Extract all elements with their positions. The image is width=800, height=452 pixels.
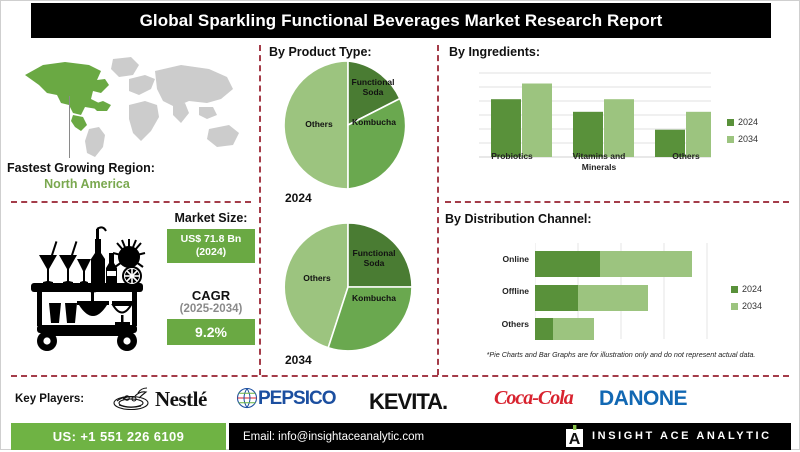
divider-horizontal-bottom bbox=[11, 375, 789, 377]
legend-item-2024: 2024 bbox=[727, 117, 758, 127]
phone-bar[interactable]: US: +1 551 226 6109 bbox=[11, 423, 226, 450]
legend-item-2024-distribution: 2024 bbox=[731, 284, 762, 294]
section-header-ingredients: By Ingredients: bbox=[449, 45, 540, 59]
market-size-value-box: US$ 71.8 Bn (2024) bbox=[167, 229, 255, 263]
logo-nestle: Nestlé bbox=[111, 386, 207, 412]
section-header-distribution: By Distribution Channel: bbox=[445, 212, 592, 226]
distribution-category-label-offline: Offline bbox=[483, 286, 529, 296]
pie-chart-2024 bbox=[284, 61, 412, 189]
fastest-growing-region-value: North America bbox=[7, 177, 167, 191]
pie-chart-2034 bbox=[284, 223, 412, 351]
legend-item-2034: 2034 bbox=[727, 134, 758, 144]
pepsico-globe-icon bbox=[236, 387, 258, 411]
logo-pepsico: PEPSICO bbox=[236, 387, 335, 411]
pie-2034-year: 2034 bbox=[285, 353, 312, 367]
ingredients-chart-legend: 2024 2034 bbox=[727, 117, 758, 151]
email-address[interactable]: Email: info@insightaceanalytic.com bbox=[243, 431, 424, 443]
page-title-text: Global Sparkling Functional Beverages Ma… bbox=[140, 11, 663, 31]
cagr-label: CAGR bbox=[161, 288, 261, 303]
fastest-growing-region-label: Fastest Growing Region: bbox=[7, 161, 257, 175]
distribution-category-label-others: Others bbox=[483, 319, 529, 329]
distribution-chart-legend: 2024 2034 bbox=[731, 284, 762, 318]
market-size-value: US$ 71.8 Bn bbox=[181, 233, 242, 246]
world-map-icon bbox=[13, 49, 253, 159]
cagr-years: (2025-2034) bbox=[161, 303, 261, 315]
logo-danone: DANONE bbox=[599, 387, 687, 411]
legend-label-2024-distribution: 2024 bbox=[742, 284, 762, 294]
world-map bbox=[13, 49, 253, 159]
danone-wordmark: DANONE bbox=[599, 387, 687, 411]
company-name: INSIGHT ACE ANALYTIC bbox=[592, 430, 772, 442]
legend-swatch-2024-icon bbox=[727, 119, 734, 126]
key-players-label: Key Players: bbox=[15, 393, 84, 405]
ingredients-category-label-others: Others bbox=[656, 151, 716, 161]
market-size-label: Market Size: bbox=[161, 211, 261, 225]
nestle-bird-nest-icon bbox=[111, 386, 155, 412]
legend-swatch-2034-icon bbox=[727, 136, 734, 143]
ingredients-category-label-probiotics: Probiotics bbox=[479, 151, 545, 161]
infographic-page: Global Sparkling Functional Beverages Ma… bbox=[0, 0, 800, 450]
chart-disclaimer: *Pie Charts and Bar Graphs are for illus… bbox=[456, 350, 786, 359]
section-header-product-type: By Product Type: bbox=[269, 45, 372, 59]
divider-horizontal-right bbox=[445, 201, 789, 203]
beverage-cart-icon bbox=[17, 219, 157, 359]
cagr-value: 9.2% bbox=[195, 324, 227, 340]
logo-coca-cola: Coca-Cola bbox=[494, 387, 573, 410]
ingredients-category-label-vitamins-minerals: Vitamins and Minerals bbox=[564, 151, 634, 173]
divider-vertical-left bbox=[259, 45, 261, 375]
pie-2024-year: 2024 bbox=[285, 191, 312, 205]
distribution-category-label-online: Online bbox=[483, 254, 529, 264]
market-size-year: (2024) bbox=[196, 246, 226, 259]
nestle-wordmark: Nestlé bbox=[155, 387, 207, 412]
legend-swatch-2024-distribution-icon bbox=[731, 286, 738, 293]
divider-vertical-right bbox=[437, 45, 439, 375]
svg-text:A: A bbox=[569, 431, 581, 447]
coca-cola-wordmark: Coca-Cola bbox=[494, 387, 573, 410]
map-leader-line bbox=[69, 96, 70, 158]
beverage-cart-illustration bbox=[17, 219, 157, 359]
divider-horizontal-left bbox=[11, 201, 251, 203]
legend-swatch-2034-distribution-icon bbox=[731, 303, 738, 310]
legend-label-2034-distribution: 2034 bbox=[742, 301, 762, 311]
legend-label-2024: 2024 bbox=[738, 117, 758, 127]
company-branding: A INSIGHT ACE ANALYTIC bbox=[566, 425, 772, 447]
page-title: Global Sparkling Functional Beverages Ma… bbox=[31, 3, 771, 38]
kevita-wordmark: KEVITA. bbox=[369, 389, 447, 415]
insight-ace-logo-icon: A bbox=[566, 425, 583, 447]
logo-kevita: KEVITA. bbox=[369, 389, 447, 415]
phone-number: US: +1 551 226 6109 bbox=[53, 429, 185, 444]
pepsico-wordmark: PEPSICO bbox=[258, 388, 335, 410]
legend-label-2034: 2034 bbox=[738, 134, 758, 144]
legend-item-2034-distribution: 2034 bbox=[731, 301, 762, 311]
cagr-value-box: 9.2% bbox=[167, 319, 255, 345]
